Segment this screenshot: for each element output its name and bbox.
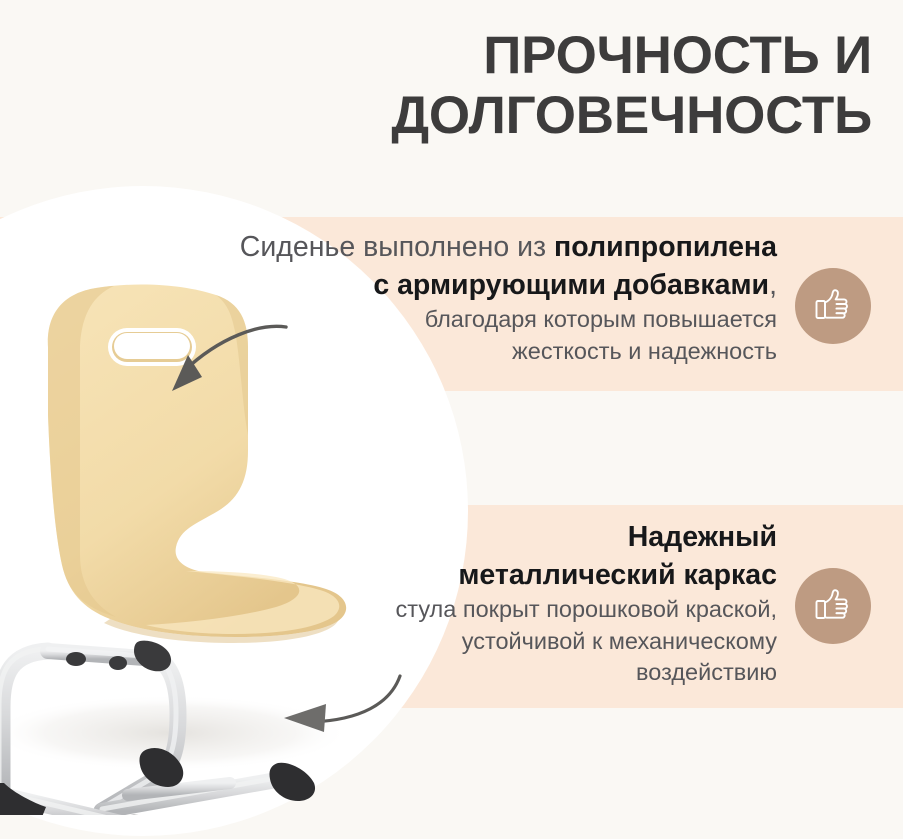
feature-text-metal-frame: Надежный металлический каркас стула покр… bbox=[307, 518, 777, 689]
feature-1-strong-2: с армирующими добавками bbox=[373, 269, 769, 301]
feature-1-strong-1: полипропилена bbox=[554, 231, 777, 263]
feature-1-normal-1: Сиденье выполнено из bbox=[240, 231, 554, 263]
feature-text-seat-material: Сиденье выполнено из полипропилена с арм… bbox=[152, 228, 777, 367]
thumbs-up-badge-2 bbox=[795, 568, 871, 644]
feature-1-line-3: благодаря которым повышается bbox=[152, 304, 777, 336]
feature-2-line-3: стула покрыт порошковой краской, bbox=[307, 594, 777, 626]
feature-2-line-5: воздействию bbox=[307, 657, 777, 689]
feature-2-line-4: устойчивой к механическому bbox=[307, 626, 777, 658]
feature-1-line-4: жесткость и надежность bbox=[152, 336, 777, 368]
page-title: ПРОЧНОСТЬ И ДОЛГОВЕЧНОСТЬ bbox=[312, 26, 872, 146]
feature-1-line-1: Сиденье выполнено из полипропилена bbox=[152, 228, 777, 266]
thumbs-up-badge-1 bbox=[795, 268, 871, 344]
feature-1-line-2: с армирующими добавками, bbox=[152, 266, 777, 304]
poster-canvas: ПРОЧНОСТЬ И ДОЛГОВЕЧНОСТЬ Сиденье выполн… bbox=[0, 0, 903, 839]
thumbs-up-icon bbox=[811, 584, 855, 628]
feature-1-comma: , bbox=[769, 269, 777, 301]
feature-2-line-1: Надежный bbox=[307, 518, 777, 556]
feature-2-line-2: металлический каркас bbox=[307, 556, 777, 594]
thumbs-up-icon bbox=[811, 284, 855, 328]
